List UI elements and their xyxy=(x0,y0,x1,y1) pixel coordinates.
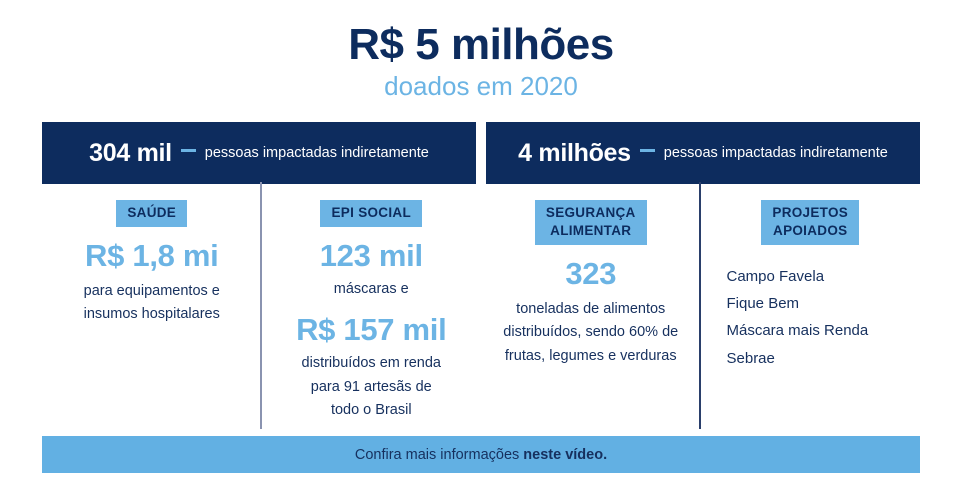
infographic-root: R$ 5 milhões doados em 2020 304 mil pess… xyxy=(0,0,962,494)
list-item: Máscara mais Renda xyxy=(727,317,913,344)
column-projetos-apoiados: PROJETOSAPOIADOS Campo Favela Fique Bem … xyxy=(701,190,921,430)
list-item: Fique Bem xyxy=(727,290,913,317)
column-saude: SAÚDE R$ 1,8 mi para equipamentos einsum… xyxy=(42,190,262,430)
column-figure: R$ 1,8 mi xyxy=(50,239,254,273)
dash-separator-icon xyxy=(181,149,196,152)
banner-description: pessoas impactadas indiretamente xyxy=(664,145,888,161)
column-figure-secondary: R$ 157 mil xyxy=(270,313,474,347)
dash-separator-icon xyxy=(640,149,655,152)
banner-row: 304 mil pessoas impactadas indiretamente… xyxy=(42,122,920,184)
column-badge-projetos-apoiados: PROJETOSAPOIADOS xyxy=(761,200,859,245)
column-figure: 123 mil xyxy=(270,239,474,273)
banner-impacted-direct: 304 mil pessoas impactadas indiretamente xyxy=(42,122,476,184)
footer-text-normal: Confira mais informações xyxy=(355,447,523,463)
column-seguranca-alimentar: SEGURANÇAALIMENTAR 323 toneladas de alim… xyxy=(481,190,701,430)
column-figure: 323 xyxy=(489,257,693,291)
banner-inner: 4 milhões pessoas impactadas indiretamen… xyxy=(518,139,888,168)
column-description-secondary: distribuídos em rendapara 91 artesãs det… xyxy=(270,352,474,422)
page-subtitle: doados em 2020 xyxy=(0,70,962,103)
list-item: Campo Favela xyxy=(727,263,913,290)
banner-number: 4 milhões xyxy=(518,139,631,168)
column-description: máscaras e xyxy=(270,278,474,301)
column-epi-social: EPI SOCIAL 123 mil máscaras e R$ 157 mil… xyxy=(262,190,482,430)
column-description: para equipamentos einsumos hospitalares xyxy=(50,280,254,327)
footer-video-link[interactable]: neste vídeo. xyxy=(523,447,607,463)
stats-columns: SAÚDE R$ 1,8 mi para equipamentos einsum… xyxy=(42,190,920,430)
page-title: R$ 5 milhões xyxy=(0,22,962,68)
banner-inner: 304 mil pessoas impactadas indiretamente xyxy=(89,139,429,168)
footer-text: Confira mais informações neste vídeo. xyxy=(355,447,607,463)
column-description: toneladas de alimentosdistribuídos, send… xyxy=(489,298,693,368)
column-badge-seguranca-alimentar: SEGURANÇAALIMENTAR xyxy=(535,200,647,245)
column-badge-saude: SAÚDE xyxy=(116,200,187,227)
column-badge-epi-social: EPI SOCIAL xyxy=(320,200,422,227)
banner-number: 304 mil xyxy=(89,139,172,168)
list-item: Sebrae xyxy=(727,345,913,372)
title-block: R$ 5 milhões doados em 2020 xyxy=(0,22,962,103)
project-list: Campo Favela Fique Bem Máscara mais Rend… xyxy=(709,263,913,372)
banner-description: pessoas impactadas indiretamente xyxy=(205,145,429,161)
footer-cta-bar[interactable]: Confira mais informações neste vídeo. xyxy=(42,436,920,473)
banner-impacted-indirect: 4 milhões pessoas impactadas indiretamen… xyxy=(486,122,920,184)
